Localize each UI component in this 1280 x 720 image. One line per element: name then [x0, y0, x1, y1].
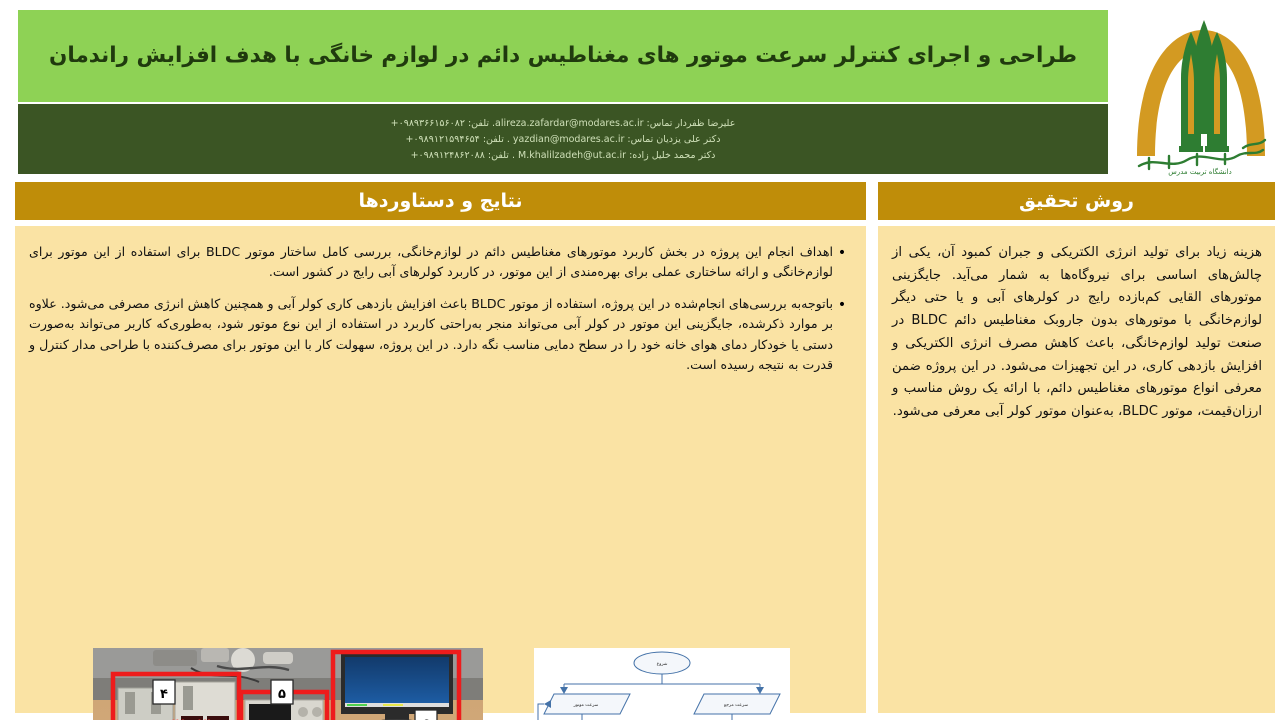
callout-6: ۶: [415, 710, 437, 720]
callout-5: ۵: [271, 680, 293, 704]
method-panel: هزینه زیاد برای تولید انرژی الکتریکی و ج…: [878, 226, 1275, 713]
section-header-method-label: روش تحقیق: [1019, 190, 1134, 212]
results-bullet-list: • اهداف انجام این پروژه در بخش کاربرد مو…: [29, 242, 851, 386]
page-title: طراحی و اجرای کنترلر سرعت موتور های مغنا…: [49, 41, 1077, 70]
bullet-text-2: باتوجه‌به بررسی‌های انجام‌شده در این پرو…: [29, 294, 833, 376]
svg-text:۵: ۵: [278, 687, 286, 702]
poster-title-banner: طراحی و اجرای کنترلر سرعت موتور های مغنا…: [18, 10, 1108, 102]
bullet-dot-icon: •: [833, 294, 851, 317]
poster-root: طراحی و اجرای کنترلر سرعت موتور های مغنا…: [0, 0, 1280, 720]
label-start: شروع: [657, 662, 668, 667]
bullet-text-1: اهداف انجام این پروژه در بخش کاربرد موتو…: [29, 242, 833, 283]
logo-name-text: دانشگاه تربیت مدرس: [1168, 167, 1231, 176]
method-paragraph: هزینه زیاد برای تولید انرژی الکتریکی و ج…: [892, 242, 1262, 424]
svg-text:۴: ۴: [160, 687, 168, 702]
section-header-results: نتایج و دستاوردها: [15, 182, 866, 220]
bullet-dot-icon: •: [833, 242, 851, 265]
list-item: • اهداف انجام این پروژه در بخش کاربرد مو…: [29, 242, 851, 283]
label-motor-speed: سرعت موتور: [573, 703, 599, 708]
section-header-results-label: نتایج و دستاوردها: [358, 190, 522, 212]
label-reference-speed: سرعت مرجع: [724, 703, 749, 708]
photo-power-supplies: 88.8 8.88: [118, 682, 235, 720]
control-flowchart: شروع سرعت موتور سرعت مرجع کنترل کننده PI…: [534, 648, 790, 720]
section-header-method: روش تحقیق: [878, 182, 1275, 220]
lab-setup-photo: 88.8 8.88: [93, 648, 483, 720]
list-item: • باتوجه‌به بررسی‌های انجام‌شده در این پ…: [29, 294, 851, 376]
contact-line-2: دکتر علی یزدیان تماس: yazdian@modares.ac…: [405, 134, 720, 145]
results-panel: • اهداف انجام این پروژه در بخش کاربرد مو…: [15, 226, 866, 713]
contact-line-3: دکتر محمد خلیل زاده: M.khalilzadeh@ut.ac…: [411, 150, 716, 161]
university-logo: دانشگاه تربیت مدرس: [1125, 6, 1275, 176]
contact-line-1: علیرضا ظفردار تماس: alireza.zafardar@mod…: [391, 118, 736, 129]
callout-4: ۴: [153, 680, 175, 704]
contact-band: علیرضا ظفردار تماس: alireza.zafardar@mod…: [18, 104, 1108, 174]
